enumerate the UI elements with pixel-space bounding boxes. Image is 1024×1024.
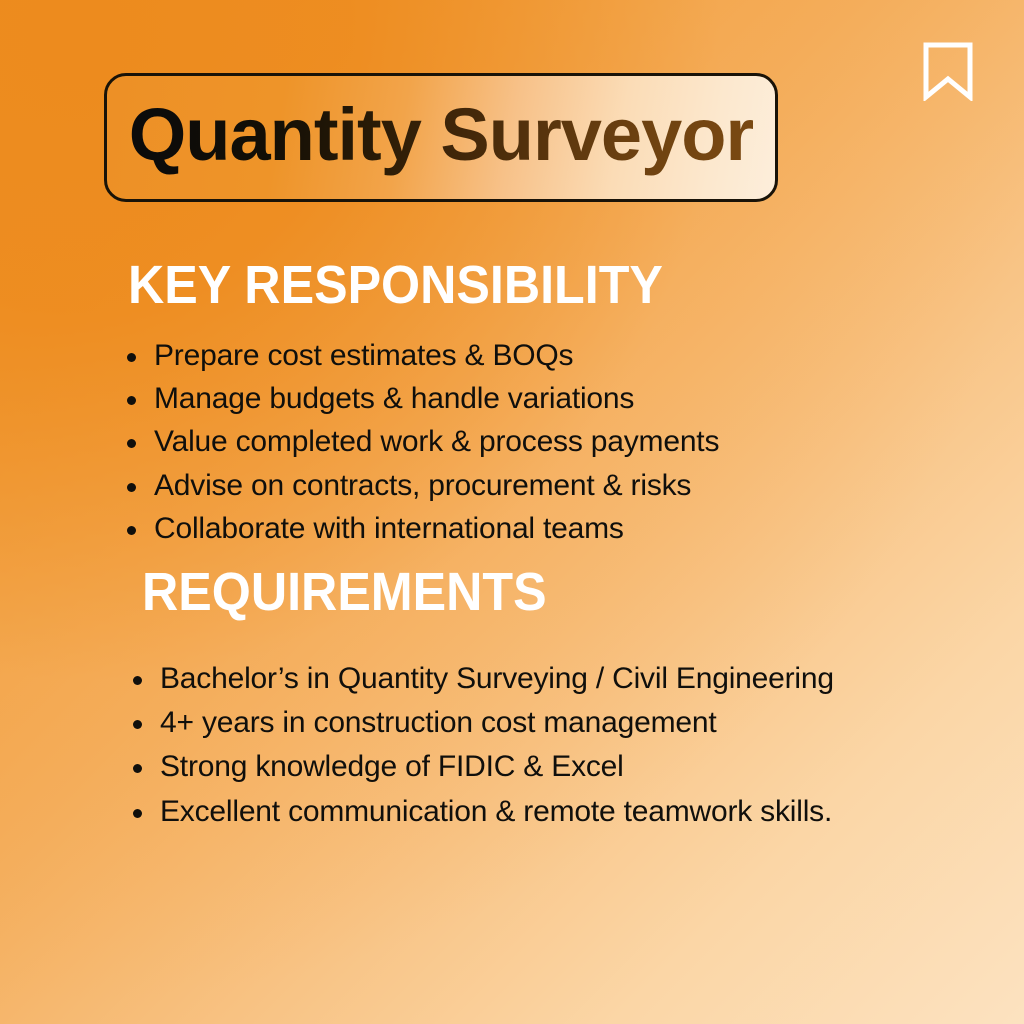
- list-item: Value completed work & process payments: [125, 420, 925, 463]
- job-title-box: Quantity Surveyor: [104, 73, 778, 202]
- list-item: Excellent communication & remote teamwor…: [131, 790, 891, 833]
- section-heading-key-responsibility: KEY RESPONSIBILITY: [128, 258, 663, 312]
- list-item: Manage budgets & handle variations: [125, 377, 925, 420]
- job-posting-card: Quantity Surveyor KEY RESPONSIBILITY Pre…: [0, 0, 1024, 1024]
- bookmark-icon[interactable]: [918, 41, 978, 101]
- page-title: Quantity Surveyor: [129, 98, 754, 178]
- list-item: 4+ years in construction cost management: [131, 701, 891, 744]
- key-responsibility-list: Prepare cost estimates & BOQs Manage bud…: [125, 334, 925, 550]
- list-item: Collaborate with international teams: [125, 507, 925, 550]
- list-item: Strong knowledge of FIDIC & Excel: [131, 745, 891, 788]
- list-item: Prepare cost estimates & BOQs: [125, 334, 925, 377]
- requirements-list: Bachelor’s in Quantity Surveying / Civil…: [131, 657, 891, 834]
- list-item: Bachelor’s in Quantity Surveying / Civil…: [131, 657, 891, 700]
- list-item: Advise on contracts, procurement & risks: [125, 464, 925, 507]
- section-heading-requirements: REQUIREMENTS: [142, 565, 547, 619]
